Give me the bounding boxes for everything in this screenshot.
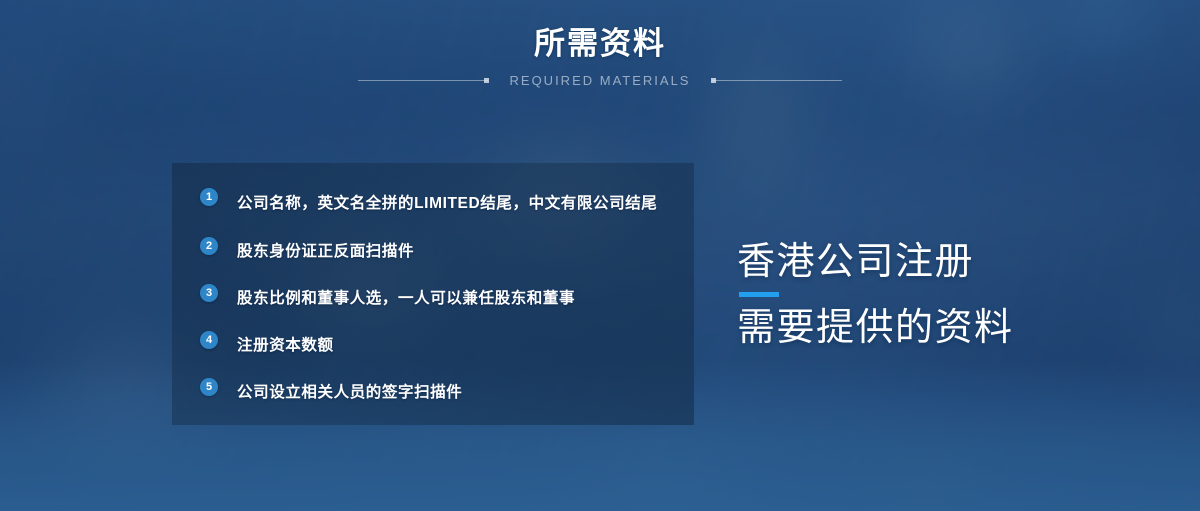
headline-line-2: 需要提供的资料 bbox=[737, 309, 1067, 347]
divider-line-left bbox=[358, 80, 488, 81]
list-item: 4 注册资本数额 bbox=[200, 328, 690, 363]
section-header: 所需资料 REQUIRED MATERIALS bbox=[0, 26, 1200, 91]
list-item-label: 公司设立相关人员的签字扫描件 bbox=[237, 375, 462, 410]
list-item-label: 股东身份证正反面扫描件 bbox=[237, 234, 414, 269]
list-item-number-badge: 5 bbox=[200, 378, 218, 396]
divider-line-right bbox=[712, 80, 842, 81]
divider-dot-right bbox=[711, 78, 716, 83]
list-item: 3 股东比例和董事人选，一人可以兼任股东和董事 bbox=[200, 281, 690, 316]
divider-dot-left bbox=[484, 78, 489, 83]
list-item-label: 股东比例和董事人选，一人可以兼任股东和董事 bbox=[237, 281, 575, 316]
list-item: 5 公司设立相关人员的签字扫描件 bbox=[200, 375, 690, 410]
materials-list: 1 公司名称，英文名全拼的LIMITED结尾，中文有限公司结尾 2 股东身份证正… bbox=[200, 185, 690, 410]
headline-accent-bar bbox=[739, 292, 779, 297]
page-title: 所需资料 bbox=[0, 26, 1200, 62]
list-item-number-badge: 4 bbox=[200, 331, 218, 349]
list-item: 1 公司名称，英文名全拼的LIMITED结尾，中文有限公司结尾 bbox=[200, 185, 690, 222]
banner-stage: 所需资料 REQUIRED MATERIALS 1 公司名称，英文名全拼的LIM… bbox=[0, 0, 1200, 511]
list-item-number-badge: 2 bbox=[200, 237, 218, 255]
list-item-number-badge: 3 bbox=[200, 284, 218, 302]
headline-block: 香港公司注册 需要提供的资料 bbox=[737, 243, 1067, 347]
headline-line-1: 香港公司注册 bbox=[737, 243, 1067, 281]
list-item: 2 股东身份证正反面扫描件 bbox=[200, 234, 690, 269]
list-item-label: 注册资本数额 bbox=[237, 328, 334, 363]
page-subtitle: REQUIRED MATERIALS bbox=[488, 73, 713, 88]
subtitle-row: REQUIRED MATERIALS bbox=[0, 71, 1200, 91]
list-item-label: 公司名称，英文名全拼的LIMITED结尾，中文有限公司结尾 bbox=[237, 185, 657, 222]
list-item-number-badge: 1 bbox=[200, 188, 218, 206]
